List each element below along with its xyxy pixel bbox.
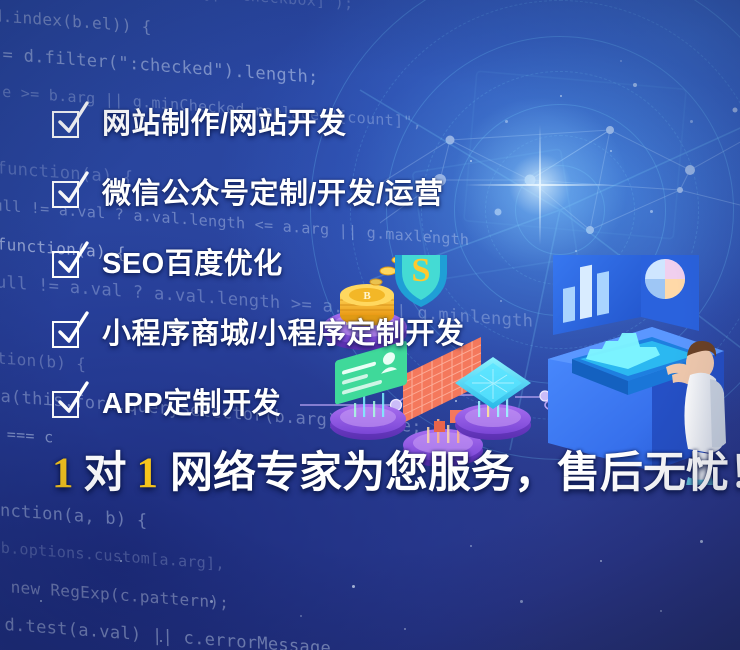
checkbox-checked-icon	[52, 179, 82, 209]
code-line: = d.index(b.el)) {	[0, 4, 152, 36]
code-line: e = d.filter(":checked").length;	[0, 43, 319, 88]
particle-dot	[620, 60, 622, 62]
service-label: 小程序商城/小程序定制开发	[102, 320, 465, 349]
checkbox-checked-icon	[52, 389, 82, 419]
list-item: 微信公众号定制/开发/运营	[52, 165, 712, 223]
checkbox-checked-icon	[52, 319, 82, 349]
code-line: = new RegExp(c.pattern);	[0, 576, 229, 613]
code-line: unction(a, b) {	[0, 500, 148, 532]
code-line: d.isSelectorAll("input[type=checkbox]");	[0, 0, 354, 13]
particle-dot	[470, 545, 472, 547]
tagline-number-two: 1	[137, 452, 159, 495]
particle-dot	[352, 585, 355, 588]
list-item: APP定制开发	[52, 375, 712, 433]
checkbox-checked-icon	[52, 109, 82, 139]
particle-dot	[210, 600, 213, 603]
list-item: SEO百度优化	[52, 235, 712, 293]
tagline-mid: 对	[84, 452, 127, 495]
service-list: 网站制作/网站开发 微信公众号定制/开发/运营 SEO百度优化 小程序商城/小程…	[52, 95, 712, 445]
code-line: l === c	[0, 424, 54, 447]
particle-dot	[300, 615, 302, 617]
particle-dot	[700, 540, 703, 543]
particle-dot	[600, 560, 602, 562]
particle-dot	[520, 600, 523, 603]
list-item: 网站制作/网站开发	[52, 95, 712, 153]
tagline-rest: 网络专家为您服务，售后无忧！	[170, 452, 740, 495]
code-line: n d.test(a.val) || c.errorMessage	[0, 613, 331, 650]
promo-banner: d.isSelectorAll("input[type=checkbox]");…	[0, 0, 740, 650]
tagline: 1 对 1 网络专家为您服务，售后无忧！	[52, 452, 740, 495]
particle-dot	[160, 640, 162, 642]
checkbox-checked-icon	[52, 249, 82, 279]
code-line: = b.options.custom[a.arg],	[0, 537, 225, 573]
particle-dot	[40, 600, 42, 602]
tagline-number-one: 1	[52, 452, 74, 495]
particle-dot	[404, 628, 406, 630]
particle-dot	[660, 610, 662, 612]
service-label: 网站制作/网站开发	[102, 110, 347, 139]
service-label: 微信公众号定制/开发/运营	[102, 180, 444, 209]
list-item: 小程序商城/小程序定制开发	[52, 305, 712, 363]
service-label: SEO百度优化	[102, 250, 283, 279]
service-label: APP定制开发	[102, 390, 281, 419]
particle-dot	[120, 560, 122, 562]
